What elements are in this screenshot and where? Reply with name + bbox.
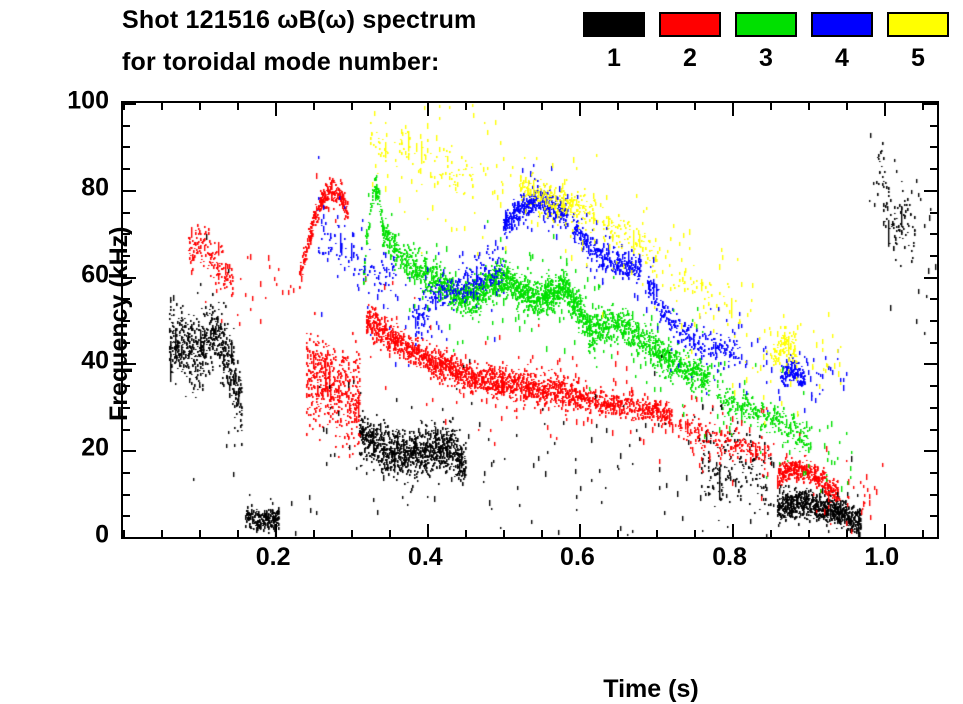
x-tick	[275, 103, 277, 116]
y-tick	[123, 450, 136, 452]
x-tick-label: 0.2	[256, 545, 291, 570]
x-tick	[922, 530, 924, 537]
y-tick	[123, 515, 130, 517]
x-tick	[694, 530, 696, 537]
x-tick-label: 1.0	[864, 545, 899, 570]
x-tick	[694, 103, 696, 110]
y-tick	[123, 146, 130, 148]
x-tick	[465, 103, 467, 110]
x-tick	[541, 103, 543, 110]
y-tick	[123, 537, 136, 539]
y-tick	[924, 537, 937, 539]
y-tick	[930, 429, 937, 431]
legend-item-2: 2	[659, 12, 721, 71]
x-tick	[427, 103, 429, 116]
y-tick	[123, 168, 130, 170]
y-tick	[123, 472, 130, 474]
y-tick	[123, 190, 136, 192]
y-tick	[930, 320, 937, 322]
y-tick-label: 0	[0, 523, 109, 548]
legend-item-5: 5	[887, 12, 949, 71]
y-tick	[930, 233, 937, 235]
x-tick	[351, 530, 353, 537]
x-tick	[161, 530, 163, 537]
figure-title-line-1: Shot 121516 ωB(ω) spectrum	[122, 6, 476, 35]
legend-item-3: 3	[735, 12, 797, 71]
y-tick	[930, 255, 937, 257]
y-tick	[930, 125, 937, 127]
legend-label-4: 4	[811, 46, 873, 71]
x-tick	[503, 530, 505, 537]
x-tick	[884, 524, 886, 537]
x-tick	[617, 530, 619, 537]
y-tick-label: 20	[0, 436, 109, 461]
y-tick	[924, 190, 937, 192]
y-tick	[930, 385, 937, 387]
x-tick	[579, 524, 581, 537]
y-tick-label: 60	[0, 262, 109, 287]
y-tick	[123, 125, 130, 127]
y-tick	[930, 212, 937, 214]
legend-swatch-black	[583, 12, 645, 37]
figure-title-line-2: for toroidal mode number:	[122, 48, 440, 77]
legend-swatch-green	[735, 12, 797, 37]
y-tick	[930, 472, 937, 474]
y-tick	[924, 103, 937, 105]
legend-item-4: 4	[811, 12, 873, 71]
x-tick	[465, 530, 467, 537]
y-tick	[123, 212, 130, 214]
x-tick	[579, 103, 581, 116]
x-tick	[313, 530, 315, 537]
legend-label-2: 2	[659, 46, 721, 71]
y-tick-label: 80	[0, 175, 109, 200]
y-tick	[930, 146, 937, 148]
y-tick	[930, 407, 937, 409]
legend-swatch-blue	[811, 12, 873, 37]
x-tick	[541, 530, 543, 537]
x-tick	[656, 530, 658, 537]
y-tick	[123, 103, 136, 105]
y-tick-label: 100	[0, 89, 109, 114]
y-tick-label: 40	[0, 349, 109, 374]
legend-label-3: 3	[735, 46, 797, 71]
x-tick	[161, 103, 163, 110]
x-tick	[846, 103, 848, 110]
x-tick	[656, 103, 658, 110]
x-tick	[389, 103, 391, 110]
x-tick	[123, 530, 125, 537]
x-tick	[199, 103, 201, 110]
x-tick	[237, 103, 239, 110]
y-axis-title: Frequency (kHz)	[105, 227, 134, 421]
x-tick	[808, 103, 810, 110]
x-tick-label: 0.4	[408, 545, 443, 570]
legend: 12345	[583, 12, 955, 88]
x-tick	[617, 103, 619, 110]
y-tick	[924, 450, 937, 452]
x-tick	[884, 103, 886, 116]
legend-label-1: 1	[583, 46, 645, 71]
x-tick	[275, 524, 277, 537]
x-tick	[732, 103, 734, 116]
y-tick	[123, 494, 130, 496]
x-tick	[389, 530, 391, 537]
legend-swatch-yellow	[887, 12, 949, 37]
x-tick	[770, 530, 772, 537]
x-tick	[808, 530, 810, 537]
legend-label-5: 5	[887, 46, 949, 71]
y-tick	[924, 363, 937, 365]
y-tick	[930, 342, 937, 344]
spectrogram-figure: Shot 121516 ωB(ω) spectrum for toroidal …	[0, 0, 963, 615]
x-tick	[237, 530, 239, 537]
x-tick	[313, 103, 315, 110]
x-tick	[846, 530, 848, 537]
y-tick	[930, 168, 937, 170]
x-axis-title: Time (s)	[603, 675, 698, 704]
plot-area: Time (s) Frequency (kHz)	[121, 101, 939, 539]
x-tick	[503, 103, 505, 110]
x-tick-label: 0.6	[560, 545, 595, 570]
legend-item-1: 1	[583, 12, 645, 71]
y-tick	[924, 277, 937, 279]
x-tick-label: 0.8	[712, 545, 747, 570]
y-tick	[930, 494, 937, 496]
y-tick	[930, 298, 937, 300]
x-tick	[427, 524, 429, 537]
x-tick	[351, 103, 353, 110]
spectrogram-data-canvas	[123, 103, 937, 537]
x-tick	[199, 530, 201, 537]
legend-swatch-red	[659, 12, 721, 37]
y-tick	[123, 429, 130, 431]
x-tick	[770, 103, 772, 110]
x-tick	[732, 524, 734, 537]
y-tick	[930, 515, 937, 517]
